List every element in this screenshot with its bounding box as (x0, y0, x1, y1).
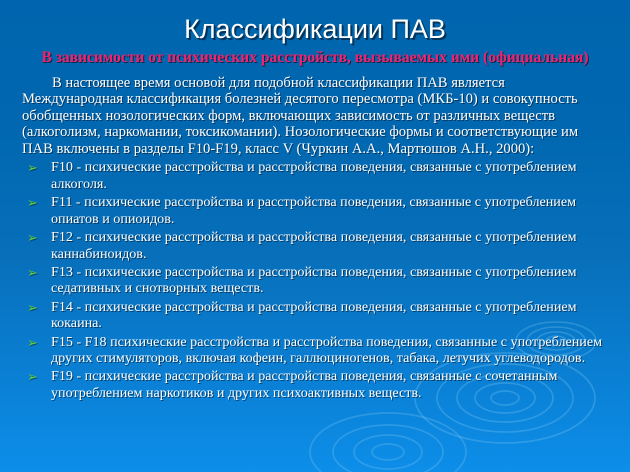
page-title: Классификации ПАВ (0, 14, 630, 45)
list-item: ➢ F11 - психические расстройства и расст… (22, 194, 612, 227)
arrow-bullet-icon: ➢ (27, 230, 43, 246)
list-item: ➢ F12 - психические расстройства и расст… (22, 229, 612, 262)
list-item: ➢ F13 - психические расстройства и расст… (22, 264, 612, 297)
arrow-bullet-icon: ➢ (27, 335, 43, 351)
list-item-text: F10 - психические расстройства и расстро… (51, 159, 612, 192)
arrow-bullet-icon: ➢ (27, 300, 43, 316)
slide-body: В настоящее время основой для подобной к… (0, 75, 630, 402)
intro-paragraph: В настоящее время основой для подобной к… (22, 75, 612, 158)
list-item: ➢ F10 - психические расстройства и расст… (22, 159, 612, 192)
arrow-bullet-icon: ➢ (27, 369, 43, 385)
list-item-text: F14 - психические расстройства и расстро… (51, 299, 612, 332)
list-item-text: F12 - психические расстройства и расстро… (51, 229, 612, 262)
arrow-bullet-icon: ➢ (27, 195, 43, 211)
arrow-bullet-icon: ➢ (27, 160, 43, 176)
slide-title-block: Классификации ПАВ В зависимости от психи… (0, 0, 630, 68)
list-item-text: F19 - психические расстройства и расстро… (51, 368, 612, 401)
list-item: ➢ F14 - психические расстройства и расст… (22, 299, 612, 332)
arrow-bullet-icon: ➢ (27, 265, 43, 281)
list-item-text: F11 - психические расстройства и расстро… (51, 194, 612, 227)
classification-list: ➢ F10 - психические расстройства и расст… (22, 159, 612, 401)
list-item-text: F15 - F18 психические расстройства и рас… (51, 334, 612, 367)
list-item: ➢ F15 - F18 психические расстройства и р… (22, 334, 612, 367)
list-item-text: F13 - психические расстройства и расстро… (51, 264, 612, 297)
presentation-slide: Классификации ПАВ В зависимости от психи… (0, 0, 630, 472)
list-item: ➢ F19 - психические расстройства и расст… (22, 368, 612, 401)
slide-subtitle: В зависимости от психических расстройств… (0, 48, 630, 68)
